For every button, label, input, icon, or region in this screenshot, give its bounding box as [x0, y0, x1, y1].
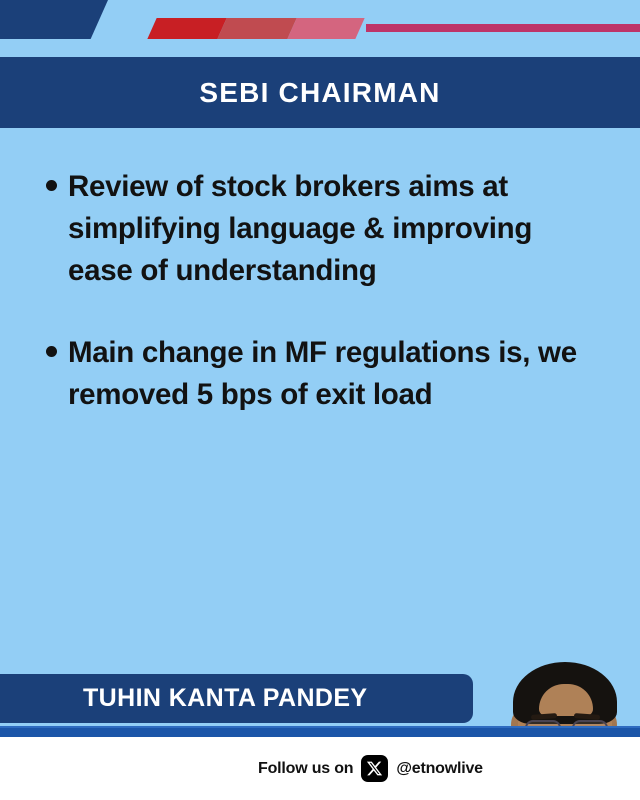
accent-slash-3 — [287, 18, 364, 39]
content-area: Review of stock brokers aims at simplify… — [0, 128, 640, 674]
accent-pink-line — [366, 24, 640, 32]
list-item: Review of stock brokers aims at simplify… — [46, 166, 606, 292]
title-band: SEBI CHAIRMAN — [0, 57, 640, 128]
speaker-name-bar: TUHIN KANTA PANDEY — [0, 674, 473, 723]
bullet-dot-icon — [46, 346, 57, 357]
accent-slash-2 — [217, 18, 296, 39]
page-title: SEBI CHAIRMAN — [199, 77, 440, 109]
accent-slash-1 — [147, 18, 226, 39]
follow-label: Follow us on — [258, 760, 353, 778]
x-twitter-icon[interactable] — [361, 755, 388, 782]
bullet-text: Main change in MF regulations is, we rem… — [68, 332, 598, 416]
top-decorative-bar — [0, 0, 640, 39]
footer: Follow us on @etnowlive E T N O W — [0, 737, 640, 800]
bullet-list: Review of stock brokers aims at simplify… — [46, 166, 606, 455]
bullet-dot-icon — [46, 180, 57, 191]
follow-us-group: Follow us on @etnowlive — [258, 755, 483, 782]
social-handle[interactable]: @etnowlive — [396, 760, 483, 778]
bullet-text: Review of stock brokers aims at simplify… — [68, 166, 598, 292]
news-card: SEBI CHAIRMAN Review of stock brokers ai… — [0, 0, 640, 800]
speaker-name: TUHIN KANTA PANDEY — [83, 684, 368, 713]
list-item: Main change in MF regulations is, we rem… — [46, 332, 606, 416]
